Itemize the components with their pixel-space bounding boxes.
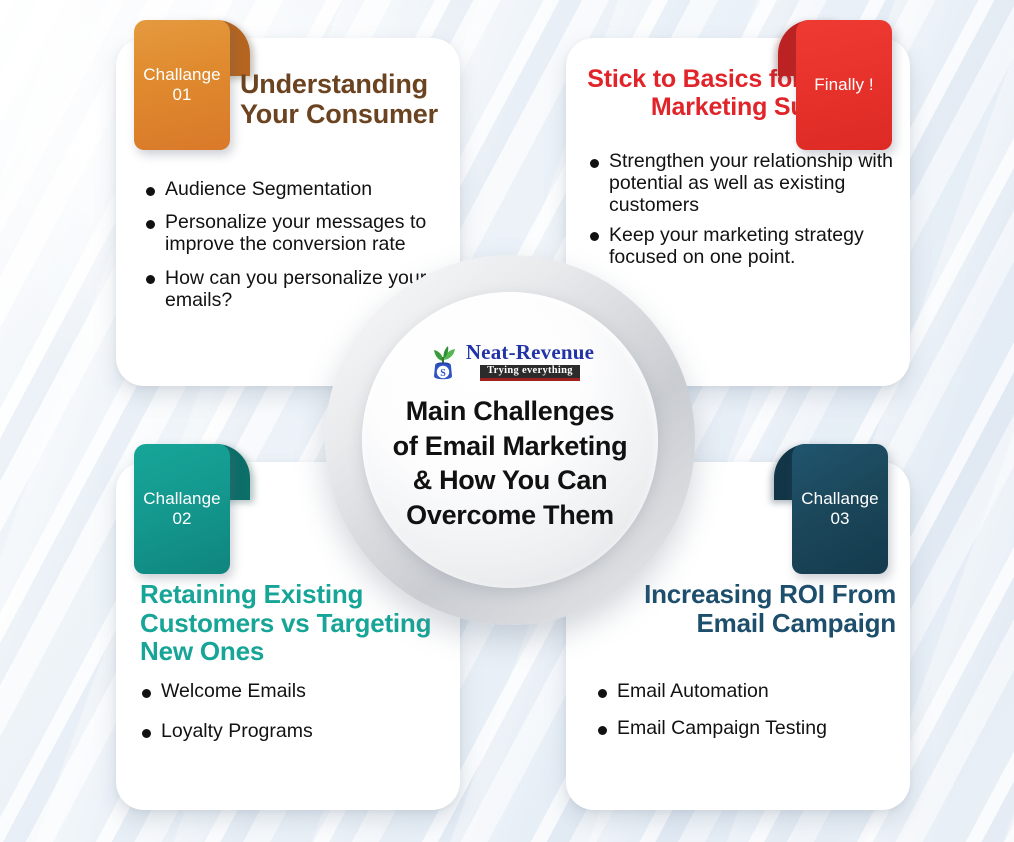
infographic-title-line: Overcome Them xyxy=(370,498,650,533)
list-item: Audience Segmentation xyxy=(144,178,444,200)
card-4-tab-body: Challange 03 xyxy=(792,444,888,574)
center-hub-inner: S Neat-Revenue Trying everything Main Ch… xyxy=(362,292,658,588)
card-3-title: Retaining Existing Customers vs Targetin… xyxy=(140,580,440,666)
list-item: Strengthen your relationship with potent… xyxy=(588,150,908,217)
card-3-tab-number: 02 xyxy=(172,509,191,529)
card-3-tab-label: Challange xyxy=(143,489,220,509)
card-3-tab-body: Challange 02 xyxy=(134,444,230,574)
card-4-tab[interactable]: Challange 03 xyxy=(792,444,888,574)
list-item: Welcome Emails xyxy=(140,680,430,702)
center-hub: S Neat-Revenue Trying everything Main Ch… xyxy=(325,255,695,625)
list-item: Loyalty Programs xyxy=(140,720,430,742)
infographic-title-line: Main Challenges xyxy=(370,394,650,429)
card-2-bullet-list: Strengthen your relationship with potent… xyxy=(588,150,908,275)
card-1-tab[interactable]: Challange 01 xyxy=(134,20,230,150)
brand-logo-text: Neat-Revenue Trying everything xyxy=(466,342,594,381)
card-2-tab-label: Finally ! xyxy=(814,75,873,95)
infographic-title-line: & How You Can xyxy=(370,463,650,498)
card-4-bullet-list: Email Automation Email Campaign Testing xyxy=(596,680,886,754)
brand-logo: S Neat-Revenue Trying everything xyxy=(426,342,594,381)
infographic-title: Main Challenges of Email Marketing & How… xyxy=(370,394,650,532)
card-2-tab[interactable]: Finally ! xyxy=(796,20,892,150)
card-3-tab[interactable]: Challange 02 xyxy=(134,444,230,574)
list-item: Email Campaign Testing xyxy=(596,717,886,739)
list-item: Keep your marketing strategy focused on … xyxy=(588,224,908,268)
list-item: Email Automation xyxy=(596,680,886,702)
card-1-tab-number: 01 xyxy=(172,85,191,105)
card-4-title: Increasing ROI From Email Campaign xyxy=(606,580,896,637)
money-plant-icon: S xyxy=(426,344,460,380)
brand-name: Neat-Revenue xyxy=(466,342,594,363)
brand-tagline: Trying everything xyxy=(480,365,580,381)
card-1-title: Understanding Your Consumer xyxy=(240,70,450,129)
list-item: Personalize your messages to improve the… xyxy=(144,211,444,255)
svg-text:S: S xyxy=(440,368,446,379)
card-3-bullet-list: Welcome Emails Loyalty Programs xyxy=(140,680,430,760)
card-4-tab-number: 03 xyxy=(830,509,849,529)
card-2-tab-body: Finally ! xyxy=(796,20,892,150)
infographic-title-line: of Email Marketing xyxy=(370,429,650,464)
card-4-tab-label: Challange xyxy=(801,489,878,509)
card-1-tab-body: Challange 01 xyxy=(134,20,230,150)
card-1-tab-label: Challange xyxy=(143,65,220,85)
